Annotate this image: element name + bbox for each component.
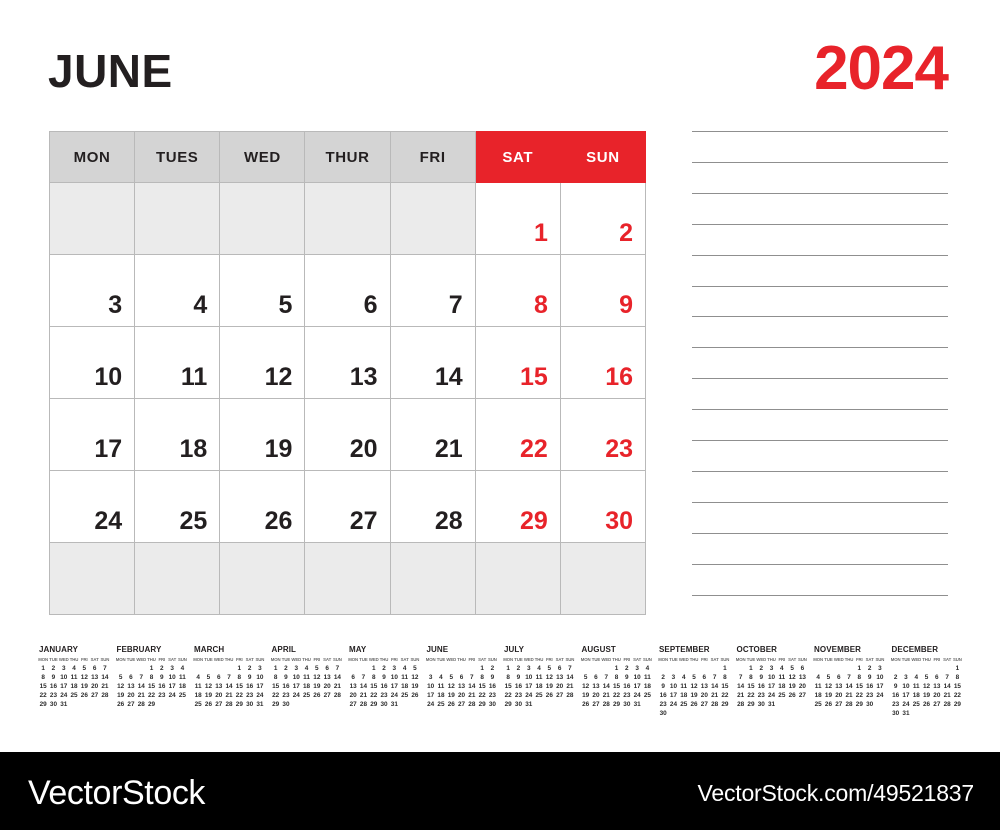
day-cell[interactable]: 16 — [560, 327, 645, 399]
mini-day-cell: 4 — [69, 664, 79, 673]
day-cell[interactable]: 26 — [220, 471, 305, 543]
mini-day-cell: 23 — [48, 691, 58, 700]
mini-day-cell: 2 — [864, 664, 874, 673]
mini-day-cell: 3 — [167, 664, 177, 673]
mini-day-cell-empty — [787, 700, 797, 709]
mini-day-cell: 8 — [611, 673, 621, 682]
mini-day-cell: 1 — [611, 664, 621, 673]
mini-calendar-march[interactable]: MARCHMONTUEWEDTHUFRISATSUN12345678910111… — [193, 645, 271, 731]
day-cell[interactable]: 14 — [390, 327, 475, 399]
mini-weekday-header: TUE — [436, 656, 446, 664]
mini-day-cell: 14 — [467, 682, 477, 691]
mini-day-cell: 17 — [59, 682, 69, 691]
note-line[interactable] — [692, 502, 948, 503]
mini-day-cell: 10 — [255, 673, 265, 682]
mini-day-cell: 26 — [689, 700, 699, 709]
day-number: 11 — [135, 365, 219, 398]
mini-day-cell: 18 — [642, 682, 652, 691]
weekday-header-mon: MON — [50, 132, 135, 183]
day-cell[interactable]: 30 — [560, 471, 645, 543]
day-cell[interactable]: 21 — [390, 399, 475, 471]
mini-day-cell: 8 — [234, 673, 244, 682]
mini-day-cell: 9 — [487, 673, 497, 682]
mini-day-cell-empty — [301, 700, 311, 709]
mini-day-cell: 8 — [271, 673, 281, 682]
week-row: 24252627282930 — [50, 471, 646, 543]
day-cell[interactable]: 5 — [220, 255, 305, 327]
day-cell[interactable]: 15 — [475, 327, 560, 399]
mini-day-cell: 2 — [157, 664, 167, 673]
mini-day-cell: 18 — [436, 691, 446, 700]
mini-day-cell-empty — [797, 700, 807, 709]
mini-day-cell: 28 — [736, 700, 746, 709]
day-number: 17 — [50, 437, 134, 470]
note-line[interactable] — [692, 378, 948, 379]
mini-day-cell: 27 — [699, 700, 709, 709]
day-number: 10 — [50, 365, 134, 398]
mini-week-row: 23242526272829 — [658, 700, 730, 709]
note-line[interactable] — [692, 409, 948, 410]
note-line[interactable] — [692, 286, 948, 287]
day-cell[interactable]: 17 — [50, 399, 135, 471]
mini-day-cell: 21 — [736, 691, 746, 700]
mini-day-cell: 17 — [632, 682, 642, 691]
mini-day-cell: 26 — [79, 691, 89, 700]
mini-day-cell: 24 — [255, 691, 265, 700]
mini-day-cell: 10 — [291, 673, 301, 682]
day-cell[interactable]: 18 — [135, 399, 220, 471]
mini-day-cell: 22 — [952, 691, 962, 700]
mini-week-row: 252627282930 — [813, 700, 885, 709]
day-number: 8 — [476, 293, 560, 326]
note-line[interactable] — [692, 595, 948, 596]
mini-day-cell: 20 — [456, 691, 466, 700]
mini-day-cell: 20 — [554, 682, 564, 691]
mini-day-cell: 30 — [513, 700, 523, 709]
mini-day-cell: 8 — [369, 673, 379, 682]
mini-day-cell-empty — [823, 664, 833, 673]
mini-weekday-header: WED — [136, 656, 146, 664]
mini-day-cell-empty — [679, 709, 689, 718]
mini-day-cell-empty — [679, 664, 689, 673]
mini-week-row: 262728293031 — [581, 700, 653, 709]
mini-day-cell: 14 — [332, 673, 342, 682]
mini-day-cell: 20 — [126, 691, 136, 700]
day-cell[interactable]: 12 — [220, 327, 305, 399]
mini-calendar-title: NOVEMBER — [814, 645, 891, 654]
mini-weekday-header-row: MONTUEWEDTHUFRISATSUN — [426, 656, 498, 664]
mini-day-cell: 9 — [513, 673, 523, 682]
mini-calendar-december[interactable]: DECEMBERMONTUEWEDTHUFRISATSUN12345678910… — [891, 645, 969, 731]
mini-day-cell: 17 — [875, 682, 885, 691]
mini-day-cell: 31 — [59, 700, 69, 709]
day-cell[interactable]: 19 — [220, 399, 305, 471]
mini-day-cell: 24 — [766, 691, 776, 700]
mini-day-cell-empty — [932, 709, 942, 718]
mini-weekday-header: WED — [369, 656, 379, 664]
mini-week-row: 9101112131415 — [658, 682, 730, 691]
note-line[interactable] — [692, 162, 948, 163]
day-cell[interactable]: 6 — [305, 255, 390, 327]
mini-week-row: 16171819202122 — [891, 691, 963, 700]
mini-day-cell: 12 — [312, 673, 322, 682]
day-number: 21 — [391, 437, 475, 470]
day-number: 30 — [561, 509, 645, 542]
mini-day-cell: 2 — [487, 664, 497, 673]
mini-day-cell: 23 — [244, 691, 254, 700]
day-cell[interactable]: 10 — [50, 327, 135, 399]
mini-day-cell: 9 — [48, 673, 58, 682]
day-cell[interactable]: 1 — [475, 183, 560, 255]
mini-weekday-header: TUE — [358, 656, 368, 664]
mini-day-cell: 14 — [844, 682, 854, 691]
day-cell[interactable]: 11 — [135, 327, 220, 399]
week-row: 3456789 — [50, 255, 646, 327]
mini-day-cell: 22 — [369, 691, 379, 700]
mini-day-cell: 31 — [632, 700, 642, 709]
day-cell[interactable]: 29 — [475, 471, 560, 543]
mini-weekday-header: FRI — [699, 656, 709, 664]
mini-day-cell: 14 — [942, 682, 952, 691]
mini-day-cell: 3 — [668, 673, 678, 682]
mini-day-cell: 2 — [513, 664, 523, 673]
mini-week-row: 123 — [193, 664, 265, 673]
day-cell[interactable]: 4 — [135, 255, 220, 327]
mini-day-cell: 3 — [59, 664, 69, 673]
mini-day-cell: 17 — [901, 691, 911, 700]
mini-day-cell: 28 — [844, 700, 854, 709]
day-cell-empty — [560, 543, 645, 615]
mini-day-cell: 30 — [487, 700, 497, 709]
mini-day-cell: 15 — [234, 682, 244, 691]
mini-day-cell: 14 — [100, 673, 110, 682]
mini-weekday-header: THU — [921, 656, 931, 664]
mini-weekday-header: SAT — [89, 656, 99, 664]
mini-day-cell: 1 — [234, 664, 244, 673]
mini-day-cell-empty — [167, 700, 177, 709]
mini-day-cell: 30 — [281, 700, 291, 709]
day-cell[interactable]: 8 — [475, 255, 560, 327]
mini-day-cell: 21 — [358, 691, 368, 700]
mini-weekday-header: SUN — [177, 656, 187, 664]
mini-day-cell: 7 — [709, 673, 719, 682]
mini-day-cell: 3 — [255, 664, 265, 673]
mini-day-cell: 15 — [271, 682, 281, 691]
mini-day-cell: 26 — [823, 700, 833, 709]
note-line[interactable] — [692, 131, 948, 132]
mini-day-cell: 25 — [436, 700, 446, 709]
mini-weekday-header-row: MONTUEWEDTHUFRISATSUN — [116, 656, 188, 664]
weekday-header-thur: THUR — [305, 132, 390, 183]
mini-calendar-november[interactable]: NOVEMBERMONTUEWEDTHUFRISATSUN12345678910… — [813, 645, 891, 731]
mini-day-cell: 20 — [89, 682, 99, 691]
mini-weekday-header: SUN — [565, 656, 575, 664]
mini-day-cell: 1 — [746, 664, 756, 673]
mini-day-cell-empty — [720, 709, 730, 718]
day-number: 4 — [135, 293, 219, 326]
mini-day-cell: 15 — [952, 682, 962, 691]
mini-day-cell: 7 — [358, 673, 368, 682]
mini-weekday-header: TUE — [203, 656, 213, 664]
mini-day-cell: 21 — [844, 691, 854, 700]
mini-calendar-september[interactable]: SEPTEMBERMONTUEWEDTHUFRISATSUN1234567891… — [658, 645, 736, 731]
mini-weekday-header-row: MONTUEWEDTHUFRISATSUN — [38, 656, 110, 664]
mini-week-row: 22232425262728 — [38, 691, 110, 700]
mini-day-cell: 21 — [565, 682, 575, 691]
mini-weekday-header: SUN — [487, 656, 497, 664]
mini-day-cell: 17 — [255, 682, 265, 691]
mini-day-cell-empty — [436, 664, 446, 673]
mini-day-cell: 12 — [79, 673, 89, 682]
mini-weekday-header: MON — [503, 656, 513, 664]
day-cell[interactable]: 25 — [135, 471, 220, 543]
mini-day-cell: 29 — [146, 700, 156, 709]
mini-week-row: 3456789 — [426, 673, 498, 682]
mini-week-row: 123 — [813, 664, 885, 673]
note-line[interactable] — [692, 564, 948, 565]
mini-day-cell-empty — [426, 664, 436, 673]
mini-calendar-august[interactable]: AUGUSTMONTUEWEDTHUFRISATSUN1234567891011… — [581, 645, 659, 731]
day-cell[interactable]: 7 — [390, 255, 475, 327]
mini-day-cell: 25 — [193, 700, 203, 709]
mini-calendar-june[interactable]: JUNEMONTUEWEDTHUFRISATSUN123456789101112… — [426, 645, 504, 731]
mini-day-cell-empty — [813, 664, 823, 673]
mini-calendar-october[interactable]: OCTOBERMONTUEWEDTHUFRISATSUN123456789101… — [736, 645, 814, 731]
day-number: 5 — [220, 293, 304, 326]
mini-day-cell: 11 — [193, 682, 203, 691]
mini-day-cell-empty — [203, 664, 213, 673]
mini-day-cell: 18 — [301, 682, 311, 691]
day-cell[interactable]: 2 — [560, 183, 645, 255]
day-cell[interactable]: 20 — [305, 399, 390, 471]
note-line[interactable] — [692, 316, 948, 317]
mini-weekday-header: WED — [291, 656, 301, 664]
mini-day-cell: 5 — [116, 673, 126, 682]
mini-day-cell-empty — [399, 700, 409, 709]
mini-day-cell: 15 — [611, 682, 621, 691]
mini-week-row: 22232425262728 — [503, 691, 575, 700]
mini-calendar-may[interactable]: MAYMONTUEWEDTHUFRISATSUN1234567891011121… — [348, 645, 426, 731]
mini-day-cell: 16 — [48, 682, 58, 691]
mini-day-cell: 26 — [116, 700, 126, 709]
day-cell[interactable]: 13 — [305, 327, 390, 399]
mini-day-cell: 28 — [100, 691, 110, 700]
mini-calendar-july[interactable]: JULYMONTUEWEDTHUFRISATSUN123456789101112… — [503, 645, 581, 731]
mini-day-cell: 11 — [301, 673, 311, 682]
mini-weekday-header-row: MONTUEWEDTHUFRISATSUN — [658, 656, 730, 664]
mini-week-row: 22232425262728 — [271, 691, 343, 700]
mini-day-cell: 3 — [766, 664, 776, 673]
mini-weekday-header: WED — [214, 656, 224, 664]
mini-day-cell: 29 — [38, 700, 48, 709]
watermark-footer: VectorStock VectorStock.com/49521837 — [0, 752, 1000, 830]
mini-weekday-header: SAT — [477, 656, 487, 664]
weekday-header-row: MONTUESWEDTHURFRISATSUN — [50, 132, 646, 183]
mini-day-cell: 5 — [446, 673, 456, 682]
year-title: 2024 — [814, 38, 948, 100]
mini-day-cell: 6 — [214, 673, 224, 682]
mini-day-cell: 4 — [813, 673, 823, 682]
mini-day-cell: 20 — [797, 682, 807, 691]
mini-day-cell: 8 — [503, 673, 513, 682]
day-cell[interactable]: 28 — [390, 471, 475, 543]
day-cell[interactable]: 3 — [50, 255, 135, 327]
mini-day-cell-empty — [911, 709, 921, 718]
mini-day-cell-empty — [116, 664, 126, 673]
mini-day-cell: 4 — [177, 664, 187, 673]
mini-day-cell-empty — [157, 700, 167, 709]
mini-weekday-header: WED — [59, 656, 69, 664]
mini-day-cell: 19 — [787, 682, 797, 691]
mini-day-cell-empty — [100, 700, 110, 709]
mini-day-cell: 26 — [581, 700, 591, 709]
mini-day-cell: 24 — [632, 691, 642, 700]
day-number: 9 — [561, 293, 645, 326]
day-cell[interactable]: 27 — [305, 471, 390, 543]
mini-day-cell: 10 — [668, 682, 678, 691]
mini-day-cell: 6 — [834, 673, 844, 682]
day-cell-empty — [390, 543, 475, 615]
mini-day-cell-empty — [89, 700, 99, 709]
mini-calendar-title: JULY — [504, 645, 581, 654]
mini-weekday-header: MON — [193, 656, 203, 664]
mini-day-cell: 8 — [477, 673, 487, 682]
mini-day-cell-empty — [901, 664, 911, 673]
mini-weekday-header: FRI — [79, 656, 89, 664]
mini-day-cell: 22 — [720, 691, 730, 700]
day-cell[interactable]: 9 — [560, 255, 645, 327]
note-line[interactable] — [692, 255, 948, 256]
mini-day-cell: 28 — [136, 700, 146, 709]
mini-weekday-header: FRI — [312, 656, 322, 664]
note-line[interactable] — [692, 347, 948, 348]
weekday-header-fri: FRI — [390, 132, 475, 183]
mini-day-cell: 29 — [477, 700, 487, 709]
note-line[interactable] — [692, 193, 948, 194]
mini-day-cell: 20 — [699, 691, 709, 700]
mini-day-cell: 31 — [255, 700, 265, 709]
note-line[interactable] — [692, 471, 948, 472]
mini-day-cell: 7 — [332, 664, 342, 673]
mini-day-cell: 18 — [813, 691, 823, 700]
mini-day-cell: 18 — [69, 682, 79, 691]
mini-day-cell: 5 — [203, 673, 213, 682]
mini-calendar-title: OCTOBER — [737, 645, 814, 654]
mini-day-cell: 7 — [467, 673, 477, 682]
mini-weekday-header: SUN — [100, 656, 110, 664]
mini-day-cell-empty — [136, 664, 146, 673]
day-cell[interactable]: 24 — [50, 471, 135, 543]
mini-weekday-header-row: MONTUEWEDTHUFRISATSUN — [736, 656, 808, 664]
mini-weekday-header: WED — [911, 656, 921, 664]
day-number: 18 — [135, 437, 219, 470]
mini-day-cell: 14 — [709, 682, 719, 691]
mini-week-row: 1 — [891, 664, 963, 673]
mini-day-cell: 19 — [544, 682, 554, 691]
mini-day-cell: 13 — [322, 673, 332, 682]
mini-day-cell: 2 — [281, 664, 291, 673]
mini-day-cell: 29 — [611, 700, 621, 709]
day-number: 12 — [220, 365, 304, 398]
mini-weekday-header: THU — [534, 656, 544, 664]
day-cell[interactable]: 22 — [475, 399, 560, 471]
mini-day-cell: 28 — [224, 700, 234, 709]
mini-calendar-title: JANUARY — [39, 645, 116, 654]
mini-weekday-header: TUE — [513, 656, 523, 664]
mini-day-cell-empty — [932, 664, 942, 673]
mini-day-cell: 6 — [348, 673, 358, 682]
mini-calendar-title: MARCH — [194, 645, 271, 654]
mini-day-cell: 21 — [601, 691, 611, 700]
mini-week-row: 17181920212223 — [426, 691, 498, 700]
mini-calendar-strip: JANUARYMONTUEWEDTHUFRISATSUN123456789101… — [38, 645, 968, 731]
mini-day-cell: 11 — [911, 682, 921, 691]
mini-day-cell: 29 — [952, 700, 962, 709]
mini-week-row: 12 — [426, 664, 498, 673]
mini-day-cell: 23 — [513, 691, 523, 700]
day-cell-empty — [475, 543, 560, 615]
mini-weekday-header: MON — [116, 656, 126, 664]
mini-weekday-header: MON — [658, 656, 668, 664]
mini-day-cell: 11 — [642, 673, 652, 682]
mini-day-cell-empty — [709, 709, 719, 718]
mini-calendar-title: SEPTEMBER — [659, 645, 736, 654]
mini-day-cell-empty — [942, 709, 952, 718]
mini-weekday-header: TUE — [591, 656, 601, 664]
mini-day-cell: 7 — [601, 673, 611, 682]
mini-week-row: 28293031 — [736, 700, 808, 709]
week-row — [50, 543, 646, 615]
mini-calendar-february[interactable]: FEBRUARYMONTUEWEDTHUFRISATSUN12345678910… — [116, 645, 194, 731]
mini-week-row: 78910111213 — [736, 673, 808, 682]
mini-day-cell: 30 — [244, 700, 254, 709]
mini-day-cell: 22 — [611, 691, 621, 700]
mini-day-cell: 13 — [89, 673, 99, 682]
mini-weekday-header: FRI — [467, 656, 477, 664]
mini-day-cell: 7 — [136, 673, 146, 682]
mini-day-cell: 30 — [48, 700, 58, 709]
mini-day-cell-empty — [322, 700, 332, 709]
mini-day-cell: 31 — [901, 709, 911, 718]
day-cell[interactable]: 23 — [560, 399, 645, 471]
mini-day-cell: 31 — [389, 700, 399, 709]
mini-day-cell: 12 — [544, 673, 554, 682]
mini-day-cell: 3 — [875, 664, 885, 673]
mini-day-cell-empty — [332, 700, 342, 709]
mini-weekday-header: TUE — [48, 656, 58, 664]
note-line[interactable] — [692, 440, 948, 441]
mini-day-cell: 15 — [477, 682, 487, 691]
mini-day-cell: 23 — [622, 691, 632, 700]
week-row: 10111213141516 — [50, 327, 646, 399]
day-number: 28 — [391, 509, 475, 542]
mini-day-cell: 10 — [389, 673, 399, 682]
mini-day-cell: 20 — [834, 691, 844, 700]
mini-week-row: 13141516171819 — [348, 682, 420, 691]
note-line[interactable] — [692, 533, 948, 534]
mini-calendar-january[interactable]: JANUARYMONTUEWEDTHUFRISATSUN123456789101… — [38, 645, 116, 731]
mini-day-cell: 7 — [942, 673, 952, 682]
note-line[interactable] — [692, 224, 948, 225]
mini-day-cell: 14 — [736, 682, 746, 691]
mini-day-cell-empty — [891, 664, 901, 673]
mini-day-cell: 6 — [932, 673, 942, 682]
mini-day-cell: 30 — [658, 709, 668, 718]
day-number: 15 — [476, 365, 560, 398]
mini-day-cell-empty — [69, 700, 79, 709]
mini-calendar-april[interactable]: APRILMONTUEWEDTHUFRISATSUN12345678910111… — [271, 645, 349, 731]
mini-day-cell: 31 — [524, 700, 534, 709]
